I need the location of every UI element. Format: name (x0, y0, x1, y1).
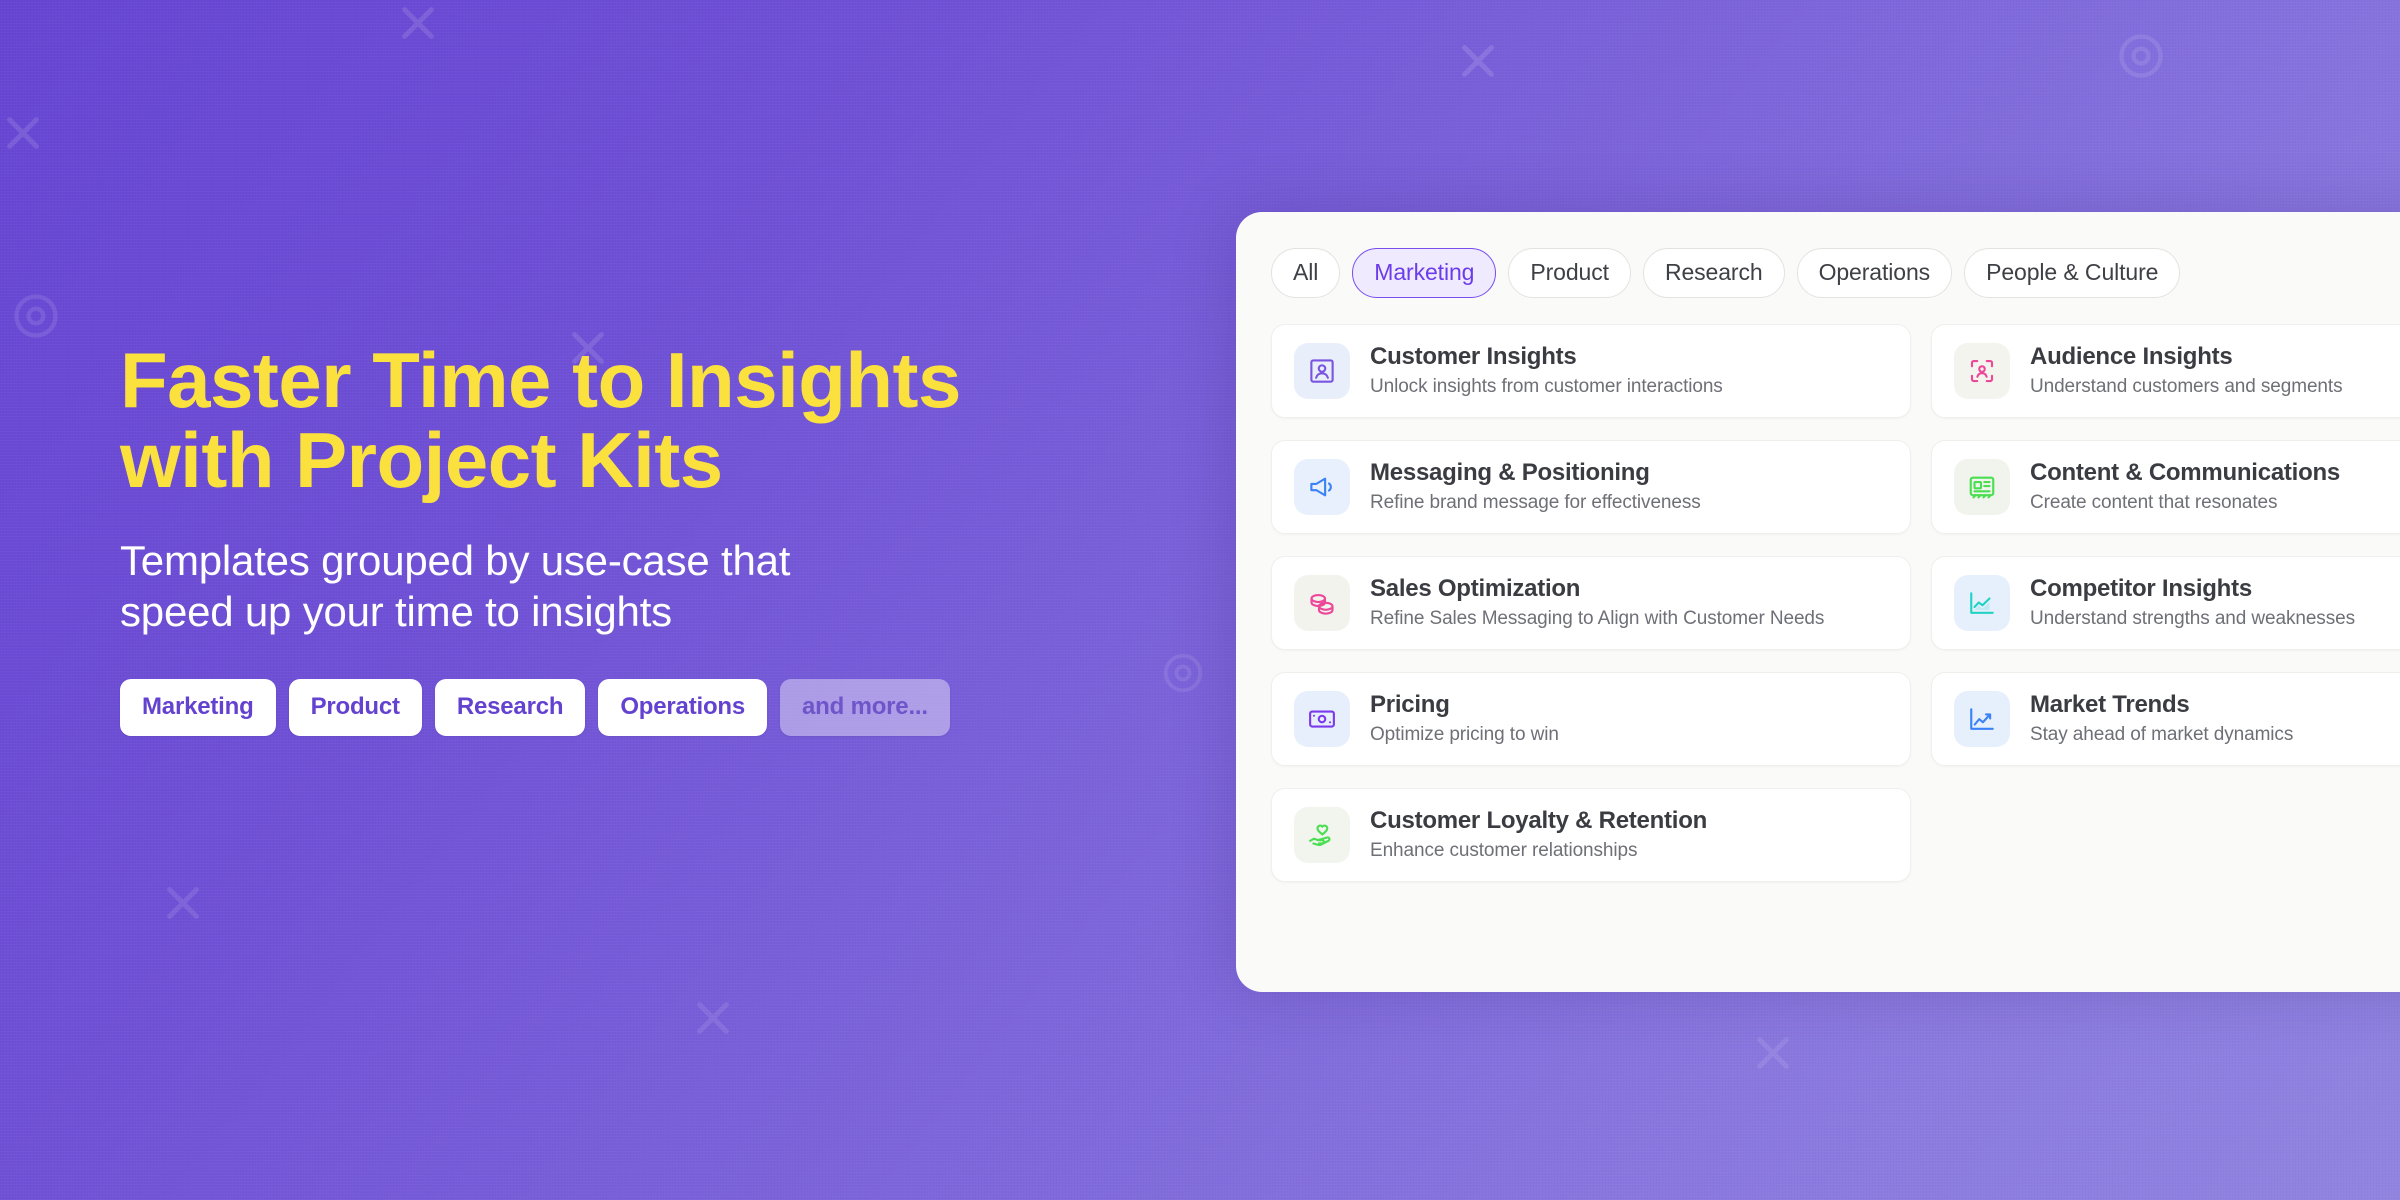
project-kits-panel: AllMarketingProductResearchOperationsPeo… (1236, 212, 2400, 992)
hero-pill-and-more[interactable]: and more... (780, 679, 950, 736)
kit-card-subtitle: Enhance customer relationships (1370, 840, 1707, 863)
hero-pill-product[interactable]: Product (289, 679, 422, 736)
kit-card-text: Competitor InsightsUnderstand strengths … (2030, 575, 2355, 631)
hero-pill-research[interactable]: Research (435, 679, 585, 736)
filter-chip-all[interactable]: All (1271, 248, 1340, 298)
banknote-icon (1294, 691, 1350, 747)
kit-card-text: PricingOptimize pricing to win (1370, 691, 1559, 747)
hero-section: Faster Time to Insights with Project Kit… (120, 340, 1180, 736)
audience-target-icon (1954, 343, 2010, 399)
kit-card-title: Competitor Insights (2030, 575, 2355, 604)
newspaper-icon (1954, 459, 2010, 515)
trending-up-chart-icon (1954, 691, 2010, 747)
hero-subtitle: Templates grouped by use-case that speed… (120, 535, 1180, 637)
kit-card-text: Content & CommunicationsCreate content t… (2030, 459, 2340, 515)
kit-card-title: Messaging & Positioning (1370, 459, 1701, 488)
kit-card-text: Customer Loyalty & RetentionEnhance cust… (1370, 807, 1707, 863)
kit-card[interactable]: Audience InsightsUnderstand customers an… (1931, 324, 2400, 418)
kit-card-title: Pricing (1370, 691, 1559, 720)
kit-card-text: Audience InsightsUnderstand customers an… (2030, 343, 2342, 399)
kit-card-title: Sales Optimization (1370, 575, 1824, 604)
kit-card-title: Customer Insights (1370, 343, 1723, 372)
kit-card-subtitle: Optimize pricing to win (1370, 724, 1559, 747)
kit-card-column-1: Customer InsightsUnlock insights from cu… (1271, 324, 1911, 882)
heart-in-hand-icon (1294, 807, 1350, 863)
kit-card-title: Content & Communications (2030, 459, 2340, 488)
hero-pill-marketing[interactable]: Marketing (120, 679, 276, 736)
kit-card[interactable]: Market TrendsStay ahead of market dynami… (1931, 672, 2400, 766)
kit-card-title: Market Trends (2030, 691, 2293, 720)
filter-chip-marketing[interactable]: Marketing (1352, 248, 1496, 298)
megaphone-icon (1294, 459, 1350, 515)
filter-chip-operations[interactable]: Operations (1797, 248, 1953, 298)
filter-chip-product[interactable]: Product (1508, 248, 1631, 298)
kit-card-subtitle: Refine Sales Messaging to Align with Cus… (1370, 608, 1824, 631)
kit-card-text: Sales OptimizationRefine Sales Messaging… (1370, 575, 1824, 631)
kit-card[interactable]: Messaging & PositioningRefine brand mess… (1271, 440, 1911, 534)
kit-card[interactable]: Competitor InsightsUnderstand strengths … (1931, 556, 2400, 650)
coins-icon (1294, 575, 1350, 631)
hero-category-pill-list: MarketingProductResearchOperationsand mo… (120, 679, 1180, 736)
category-filter-bar[interactable]: AllMarketingProductResearchOperationsPeo… (1236, 212, 2400, 298)
customer-portrait-icon (1294, 343, 1350, 399)
kit-card[interactable]: PricingOptimize pricing to win (1271, 672, 1911, 766)
kit-card-subtitle: Understand strengths and weaknesses (2030, 608, 2355, 631)
kit-card[interactable]: Customer InsightsUnlock insights from cu… (1271, 324, 1911, 418)
kit-card-grid: Customer InsightsUnlock insights from cu… (1236, 298, 2400, 882)
hero-pill-operations[interactable]: Operations (598, 679, 767, 736)
kit-card-text: Market TrendsStay ahead of market dynami… (2030, 691, 2293, 747)
kit-card-subtitle: Unlock insights from customer interactio… (1370, 376, 1723, 399)
filter-chip-research[interactable]: Research (1643, 248, 1785, 298)
page-title: Faster Time to Insights with Project Kit… (120, 340, 1180, 501)
kit-card[interactable]: Sales OptimizationRefine Sales Messaging… (1271, 556, 1911, 650)
kit-card-text: Customer InsightsUnlock insights from cu… (1370, 343, 1723, 399)
kit-card-column-2: Audience InsightsUnderstand customers an… (1931, 324, 2400, 882)
area-chart-icon (1954, 575, 2010, 631)
kit-card-title: Audience Insights (2030, 343, 2342, 372)
kit-card-subtitle: Create content that resonates (2030, 492, 2340, 515)
kit-card-subtitle: Stay ahead of market dynamics (2030, 724, 2293, 747)
kit-card[interactable]: Content & CommunicationsCreate content t… (1931, 440, 2400, 534)
kit-card[interactable]: Customer Loyalty & RetentionEnhance cust… (1271, 788, 1911, 882)
kit-card-subtitle: Refine brand message for effectiveness (1370, 492, 1701, 515)
kit-card-subtitle: Understand customers and segments (2030, 376, 2342, 399)
kit-card-title: Customer Loyalty & Retention (1370, 807, 1707, 836)
kit-card-text: Messaging & PositioningRefine brand mess… (1370, 459, 1701, 515)
filter-chip-people-culture[interactable]: People & Culture (1964, 248, 2180, 298)
